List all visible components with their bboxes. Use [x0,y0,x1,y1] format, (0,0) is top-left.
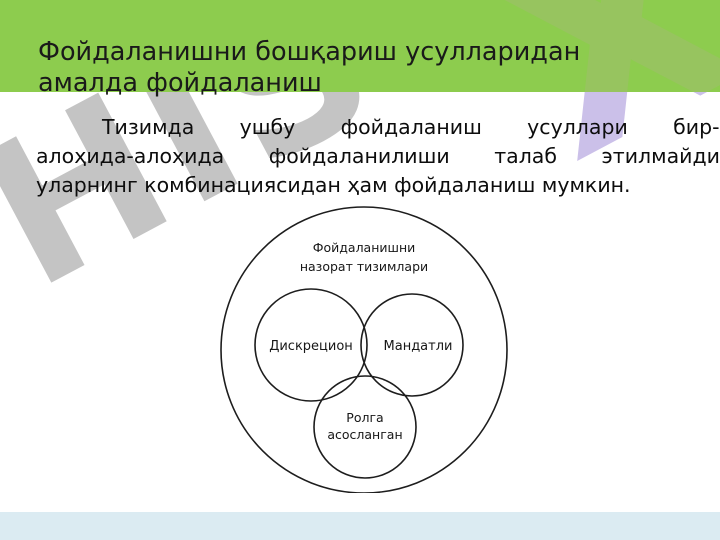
body-line-1-word-5: бир-бирид [673,113,720,142]
body-line-1-word-1: Тизимда [102,113,194,142]
discretionary-circle-label: Дискрецион [269,339,353,354]
body-line-1-word-4: усуллари [527,113,628,142]
outer-circle-label-line-2: назорат тизимлари [300,259,428,274]
body-line-1-word-2: ушбу [240,113,296,142]
page-title-line-1: Фойдаланишни бошқариш усулларидан [38,37,678,68]
outer-circle-label-line-1: Фойдаланишни [313,240,416,255]
body-line-1: Тизимда ушбу фойдаланиш усуллари бир-бир… [36,113,720,142]
body-line-2: алоҳида-алоҳида фойдаланилиши талаб этил… [36,142,720,171]
body-line-2-word-3: талаб [494,142,557,171]
page-title: Фойдаланишни бошқариш усулларидан амалда… [38,37,678,99]
footer-band [0,512,720,540]
mandatory-circle-label: Мандатли [384,339,453,354]
slide-canvas: HISSO X X Фойдаланишни бошқариш усуллари… [0,0,720,540]
role-based-circle-label-line-1: Ролга [346,410,383,425]
page-title-line-2: амалда фойдаланиш [38,68,678,99]
body-line-2-word-4: этилмайди [602,142,720,171]
body-line-3: уларнинг комбинациясидан ҳам фойдаланиш … [36,171,720,200]
access-control-venn-diagram: Фойдаланишни назорат тизимлари Дискрецио… [215,203,515,493]
body-line-1-word-3: фойдаланиш [341,113,482,142]
role-based-circle-label-line-2: асосланган [327,427,402,442]
body-line-2-word-2: фойдаланилиши [269,142,450,171]
body-line-2-word-1: алоҳида-алоҳида [36,142,224,171]
body-paragraph: Тизимда ушбу фойдаланиш усуллари бир-бир… [36,113,720,200]
